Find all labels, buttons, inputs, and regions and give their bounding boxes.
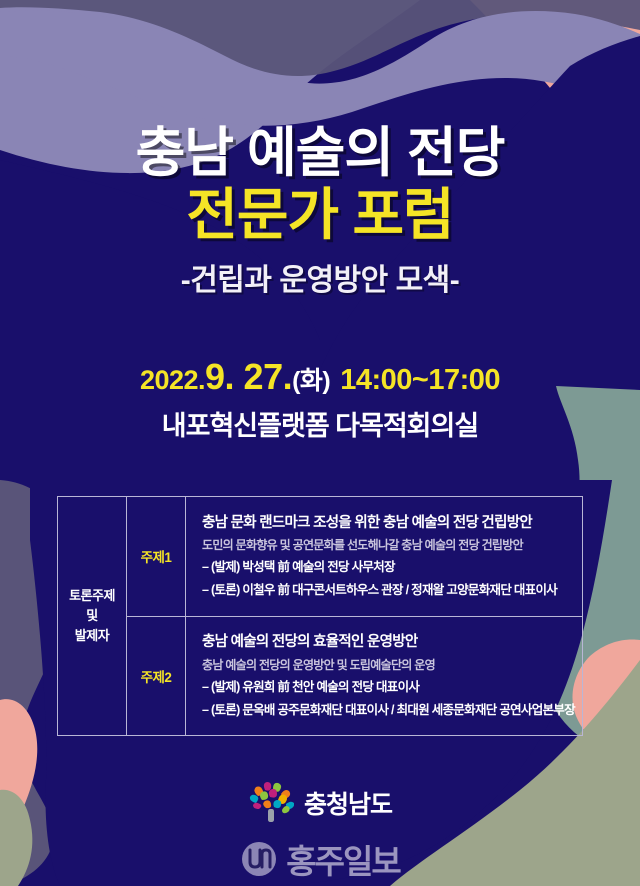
event-month-day: 9. 27. <box>205 356 292 397</box>
table-row: 주제1 충남 문화 랜드마크 조성을 위한 충남 예술의 전당 건립방안 도민의… <box>127 497 583 616</box>
event-poster: 충남 예술의 전당 전문가 포럼 -건립과 운영방안 모색- 2022.9. 2… <box>0 0 640 886</box>
table-row-header-line-2: 및 <box>69 606 115 626</box>
brand-block: 충청남도 <box>0 782 640 824</box>
topic-number: 주제2 <box>127 617 186 736</box>
topic-speaker-presenter: – (발제) 유원희 前 천안 예술의 전당 대표이사 <box>202 678 575 697</box>
watermark-block: 홍주일보 <box>0 835 640 883</box>
topic-speaker-presenter: – (발제) 박성택 前 예술의 전당 사무처장 <box>202 558 575 577</box>
table-body: 주제1 충남 문화 랜드마크 조성을 위한 충남 예술의 전당 건립방안 도민의… <box>127 497 583 735</box>
brand-name: 충청남도 <box>304 785 392 821</box>
event-time: 14:00~17:00 <box>340 364 500 396</box>
event-day-of-week: (화) <box>292 367 330 395</box>
event-datetime: 2022.9. 27.(화)14:00~17:00 <box>0 356 640 398</box>
topic-speaker-discussant: – (토론) 문옥배 공주문화재단 대표이사 / 최대원 세종문화재단 공연사업… <box>202 701 575 720</box>
chungnam-tree-logo-icon <box>248 782 294 824</box>
topic-number: 주제1 <box>127 497 186 616</box>
topic-title: 충남 예술의 전당의 효율적인 운영방안 <box>202 633 575 653</box>
poster-title-line-2: 전문가 포럼 <box>0 184 640 247</box>
table-row: 주제2 충남 예술의 전당의 효율적인 운영방안 충남 예술의 전당의 운영방안… <box>127 616 583 736</box>
topic-description: 충남 예술의 전당의 운영방안 및 도립예술단의 운영 <box>202 657 575 674</box>
topic-detail: 충남 문화 랜드마크 조성을 위한 충남 예술의 전당 건립방안 도민의 문화향… <box>186 497 583 616</box>
poster-subtitle: -건립과 운영방안 모색- <box>0 255 640 299</box>
topic-speaker-discussant: – (토론) 이철우 前 대구콘서트하우스 관장 / 정재왈 고양문화재단 대표… <box>202 581 575 600</box>
hongju-ilbo-circle-logo-icon <box>240 840 278 878</box>
table-row-header-line-1: 토론주제 <box>69 586 115 606</box>
poster-title-block: 충남 예술의 전당 전문가 포럼 -건립과 운영방안 모색- <box>0 124 640 299</box>
watermark-name: 홍주일보 <box>286 835 399 883</box>
event-year: 2022. <box>140 365 205 395</box>
table-row-header: 토론주제 및 발제자 <box>58 497 127 735</box>
topic-detail: 충남 예술의 전당의 효율적인 운영방안 충남 예술의 전당의 운영방안 및 도… <box>186 617 583 736</box>
topic-description: 도민의 문화향유 및 공연문화를 선도해나갈 충남 예술의 전당 건립방안 <box>202 537 575 554</box>
event-venue: 내포혁신플랫폼 다목적회의실 <box>0 404 640 443</box>
poster-title-line-1: 충남 예술의 전당 <box>0 124 640 182</box>
topic-title: 충남 문화 랜드마크 조성을 위한 충남 예술의 전당 건립방안 <box>202 514 575 534</box>
table-row-header-line-3: 발제자 <box>69 626 115 646</box>
forum-program-table: 토론주제 및 발제자 주제1 충남 문화 랜드마크 조성을 위한 충남 예술의 … <box>57 496 583 736</box>
